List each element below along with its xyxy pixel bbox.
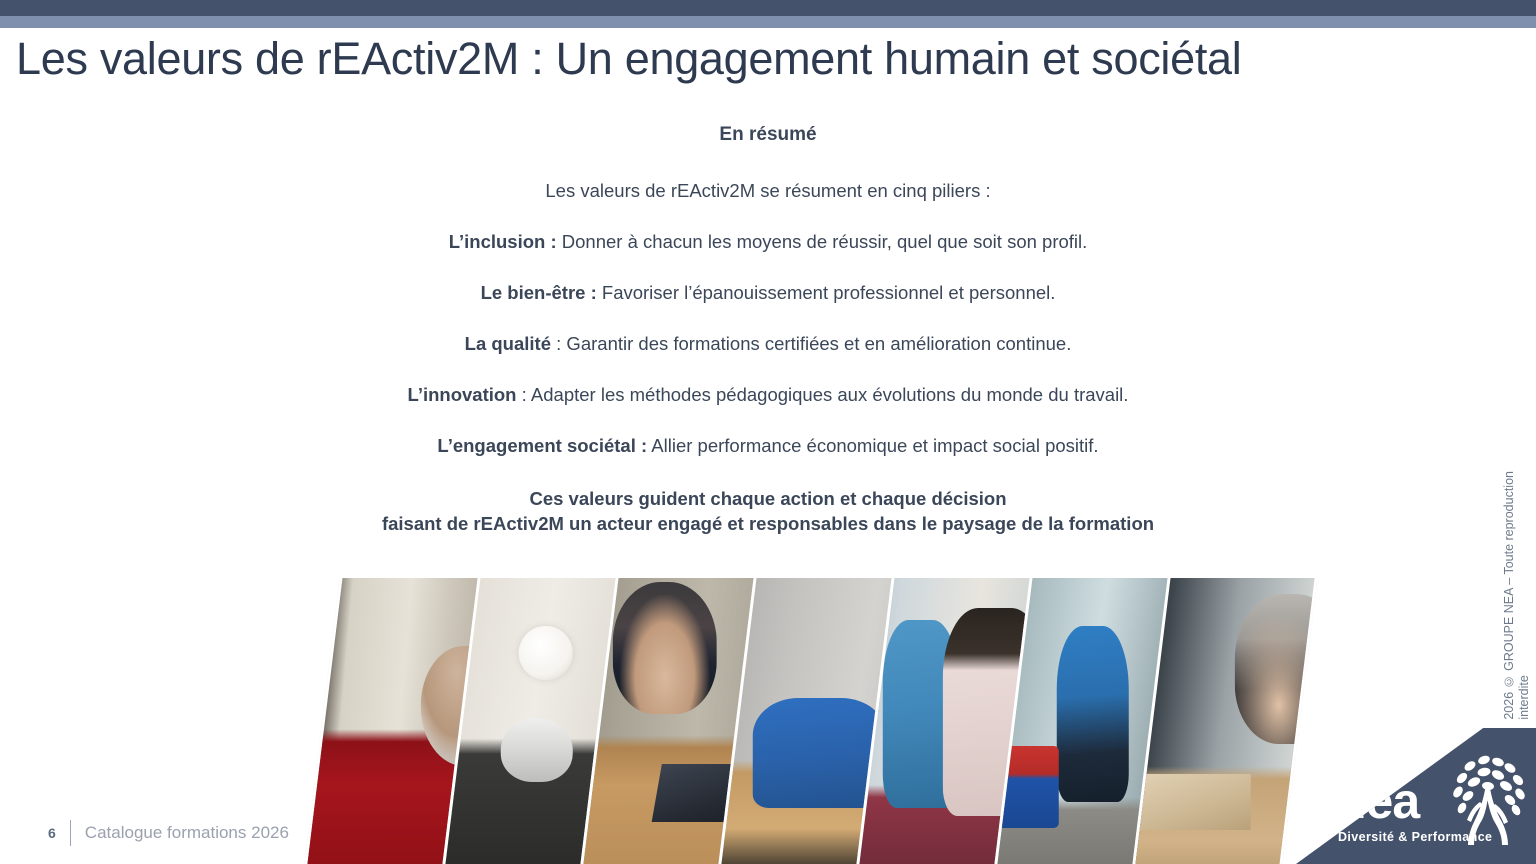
pillar-qualite-label: La qualité: [465, 333, 551, 354]
pillar-inclusion: L’inclusion : Donner à chacun les moyens…: [268, 231, 1268, 253]
top-band-dark: [0, 0, 1536, 16]
pillar-innovation-label: L’innovation: [408, 384, 517, 405]
summary-heading: En résumé: [268, 124, 1268, 146]
closing-line-2: faisant de rEActiv2M un acteur engagé et…: [268, 511, 1268, 536]
pillar-inclusion-text: Donner à chacun les moyens de réussir, q…: [557, 231, 1088, 252]
logo-name-text: nea: [1336, 776, 1419, 826]
pillar-innovation-text: : Adapter les méthodes pédagogiques aux …: [517, 384, 1129, 405]
copyright-notice: 2026 © GROUPE NEA – Toute reproduction i…: [1500, 420, 1534, 720]
pillar-bien-etre: Le bien-être : Favoriser l’épanouissemen…: [268, 282, 1268, 304]
pillar-bien-etre-label: Le bien-être :: [481, 282, 597, 303]
closing-line-1: Ces valeurs guident chaque action et cha…: [268, 486, 1268, 511]
footer: 6 Catalogue formations 2026: [48, 820, 289, 846]
tree-icon: [1440, 750, 1532, 846]
pillar-engagement-societal-label: L’engagement sociétal :: [437, 435, 647, 456]
pillar-bien-etre-text: Favoriser l’épanouissement professionnel…: [597, 282, 1056, 303]
photo-strip: [300, 578, 1260, 864]
page-number: 6: [48, 825, 56, 841]
pillar-engagement-societal: L’engagement sociétal : Allier performan…: [268, 435, 1268, 457]
footer-divider: [70, 820, 71, 846]
logo-panel: Groupe nea Diversité & Performance: [1296, 728, 1536, 864]
pillar-inclusion-label: L’inclusion :: [449, 231, 557, 252]
copyright-text: 2026 © GROUPE NEA – Toute reproduction i…: [1502, 471, 1532, 720]
pillar-qualite-text: : Garantir des formations certifiées et …: [551, 333, 1071, 354]
closing-statement: Ces valeurs guident chaque action et cha…: [268, 486, 1268, 536]
brand-logo: Groupe nea Diversité & Performance: [1332, 750, 1532, 860]
summary-lead: Les valeurs de rEActiv2M se résument en …: [268, 180, 1268, 202]
pillar-qualite: La qualité : Garantir des formations cer…: [268, 333, 1268, 355]
content-body: En résumé Les valeurs de rEActiv2M se ré…: [268, 124, 1268, 536]
footer-label: Catalogue formations 2026: [85, 823, 289, 843]
page-title: Les valeurs de rEActiv2M : Un engagement…: [16, 31, 1466, 87]
top-band-light: [0, 16, 1536, 28]
slide-canvas: Les valeurs de rEActiv2M : Un engagement…: [0, 0, 1536, 864]
logo-groupe-text: Groupe: [1347, 753, 1412, 782]
pillar-engagement-societal-text: Allier performance économique et impact …: [647, 435, 1098, 456]
pillar-innovation: L’innovation : Adapter les méthodes péda…: [268, 384, 1268, 406]
